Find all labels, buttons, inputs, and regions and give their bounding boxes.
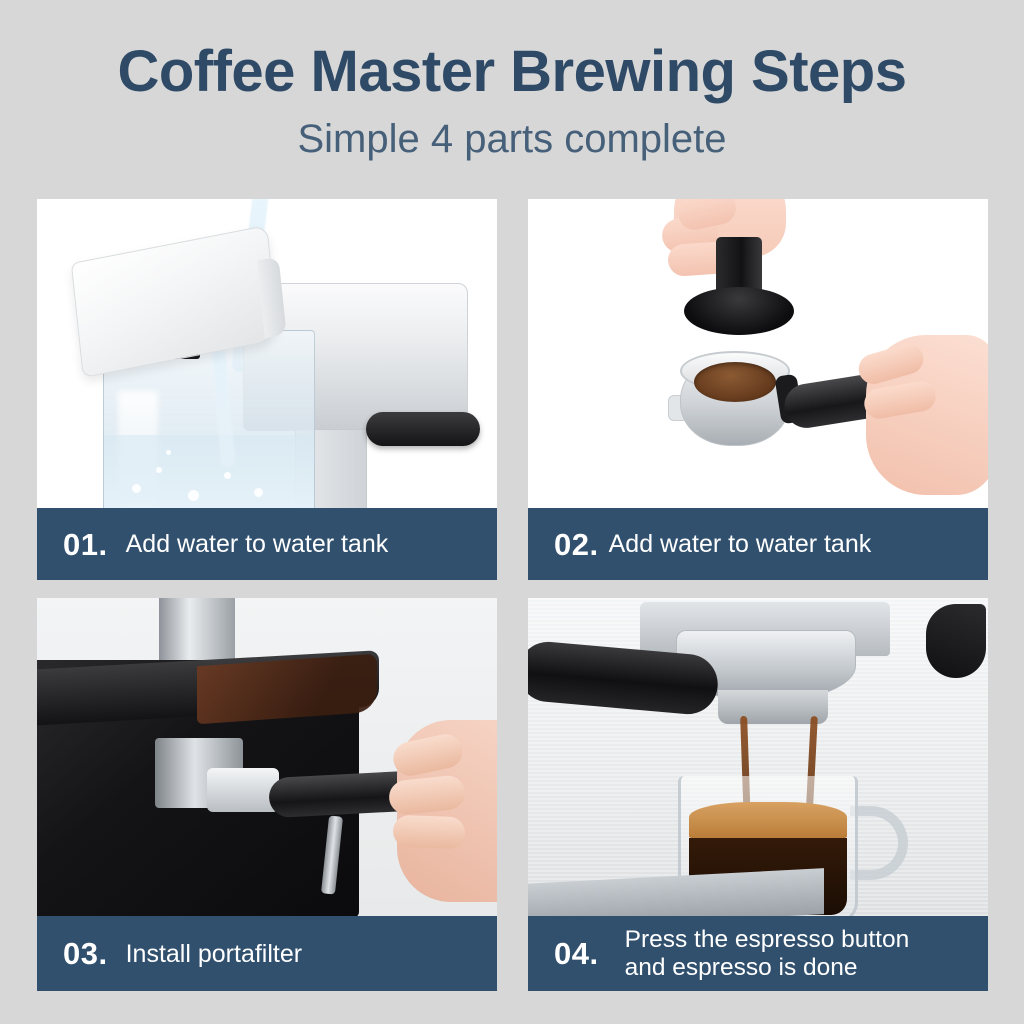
portafilter-basket (207, 768, 279, 812)
step-caption-text: Add water to water tank (609, 530, 988, 558)
water-bubble (156, 467, 162, 473)
steam-wand-knob (926, 604, 986, 678)
step-caption-line-1: Press the espresso button (625, 926, 910, 953)
tamper-base (684, 287, 794, 335)
water-bubble (132, 484, 141, 493)
steps-grid: 01. Add water to water tank 02. Add wate (37, 199, 988, 991)
page-header: Coffee Master Brewing Steps Simple 4 par… (0, 0, 1024, 190)
crema-layer (689, 802, 847, 840)
step-number: 04. (554, 938, 599, 969)
knuckle (392, 815, 465, 849)
step-caption-text: Install portafilter (126, 940, 497, 968)
step-card-03[interactable]: 03. Install portafilter (37, 598, 497, 991)
step-card-02[interactable]: 02. Add water to water tank (528, 199, 988, 580)
step-03-photo (37, 598, 497, 916)
tank-water-level (104, 435, 314, 508)
step-card-04[interactable]: 04. Press the espresso button and espres… (528, 598, 988, 991)
step-01-caption: 01. Add water to water tank (37, 508, 497, 580)
step-card-01[interactable]: 01. Add water to water tank (37, 199, 497, 580)
step-caption-text: Add water to water tank (126, 530, 497, 558)
step-number: 02. (554, 529, 599, 560)
step-04-caption: 04. Press the espresso button and espres… (528, 916, 988, 991)
step-02-photo (528, 199, 988, 508)
step-caption-line-2: and espresso is done (625, 954, 858, 981)
step-number: 03. (63, 938, 108, 969)
coffee-grounds (694, 362, 776, 402)
step-02-caption: 02. Add water to water tank (528, 508, 988, 580)
step-caption-text: Press the espresso button and espresso i… (625, 926, 988, 981)
portafilter-handle (366, 412, 480, 446)
step-04-photo (528, 598, 988, 916)
step-03-caption: 03. Install portafilter (37, 916, 497, 991)
page-title: Coffee Master Brewing Steps (0, 42, 1024, 103)
water-bubble (254, 488, 263, 497)
step-01-photo (37, 199, 497, 508)
machine-chrome-column (159, 598, 235, 668)
step-number: 01. (63, 529, 108, 560)
water-bubble (166, 450, 171, 455)
water-bubble (188, 490, 199, 501)
page-subtitle: Simple 4 parts complete (0, 117, 1024, 161)
water-bubble (224, 472, 231, 479)
